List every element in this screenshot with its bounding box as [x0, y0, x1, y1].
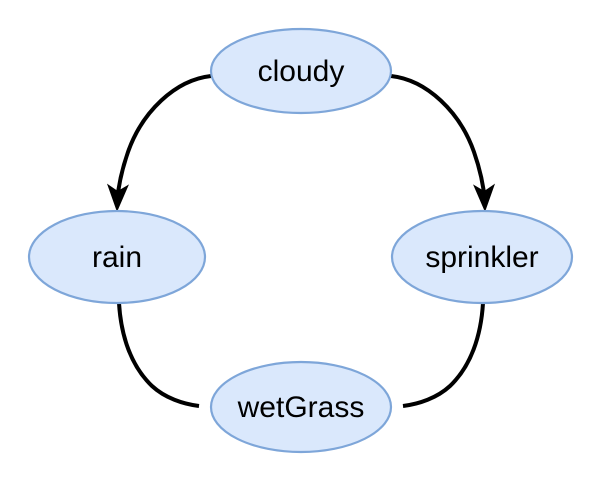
edge-cloudy-to-rain[interactable]	[106, 76, 211, 212]
node-rain[interactable]: rain	[29, 211, 205, 303]
node-wetGrass[interactable]: wetGrass	[211, 362, 391, 452]
node-rain-label: rain	[92, 241, 142, 274]
edge-sprinkler-to-wetGrass-line	[403, 303, 483, 406]
nodes-layer: cloudy rain sprinkler wetGrass	[29, 29, 572, 452]
edge-cloudy-to-rain-line	[117, 76, 211, 202]
node-cloudy-label: cloudy	[258, 55, 345, 88]
edge-cloudy-to-sprinkler-line	[391, 76, 485, 202]
edge-cloudy-to-sprinkler[interactable]	[391, 76, 496, 212]
diagram-canvas: cloudy rain sprinkler wetGrass	[0, 0, 603, 486]
node-sprinkler-label: sprinkler	[425, 241, 538, 274]
graph-svg: cloudy rain sprinkler wetGrass	[0, 0, 603, 486]
node-wetGrass-label: wetGrass	[237, 391, 365, 424]
node-sprinkler[interactable]: sprinkler	[392, 211, 572, 303]
edge-rain-to-wetGrass-line	[119, 303, 199, 406]
node-cloudy[interactable]: cloudy	[211, 29, 391, 113]
